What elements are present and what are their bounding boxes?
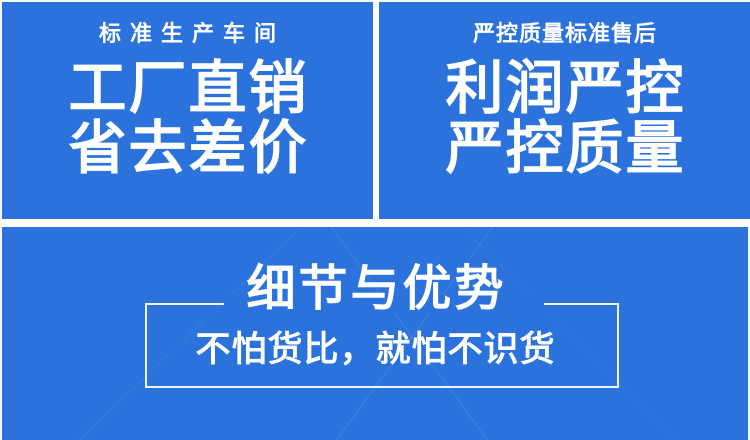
panel-details-and-advantages: 细节与优势 不怕货比，就怕不识货: [2, 227, 748, 440]
panel-quality-control-eyebrow: 严控质量标准售后: [472, 23, 657, 45]
panel-quality-control-headline-line2: 严控质量: [443, 119, 685, 179]
panel-quality-control-headline-line1: 利润严控: [443, 59, 685, 119]
panel-factory-direct-content: 标准生产车间 工厂直销 省去差价: [2, 2, 373, 219]
panel-factory-direct-eyebrow: 标准生产车间: [90, 23, 285, 45]
feature-subtitle: 不怕货比，就怕不识货: [2, 332, 748, 367]
panel-quality-control-content: 严控质量标准售后 利润严控 严控质量: [379, 2, 750, 219]
promo-banner: 标准生产车间 工厂直销 省去差价 严控质量标准售后 利润严控 严控质量 细节与优…: [0, 0, 750, 440]
panel-factory-direct-headline-line1: 工厂直销: [66, 59, 308, 119]
panel-factory-direct-headline-line2: 省去差价: [66, 119, 308, 179]
feature-title: 细节与优势: [2, 265, 748, 314]
top-panel-row: 标准生产车间 工厂直销 省去差价 严控质量标准售后 利润严控 严控质量: [0, 0, 750, 219]
panel-factory-direct: 标准生产车间 工厂直销 省去差价: [2, 2, 373, 219]
panel-quality-control: 严控质量标准售后 利润严控 严控质量: [379, 2, 750, 219]
